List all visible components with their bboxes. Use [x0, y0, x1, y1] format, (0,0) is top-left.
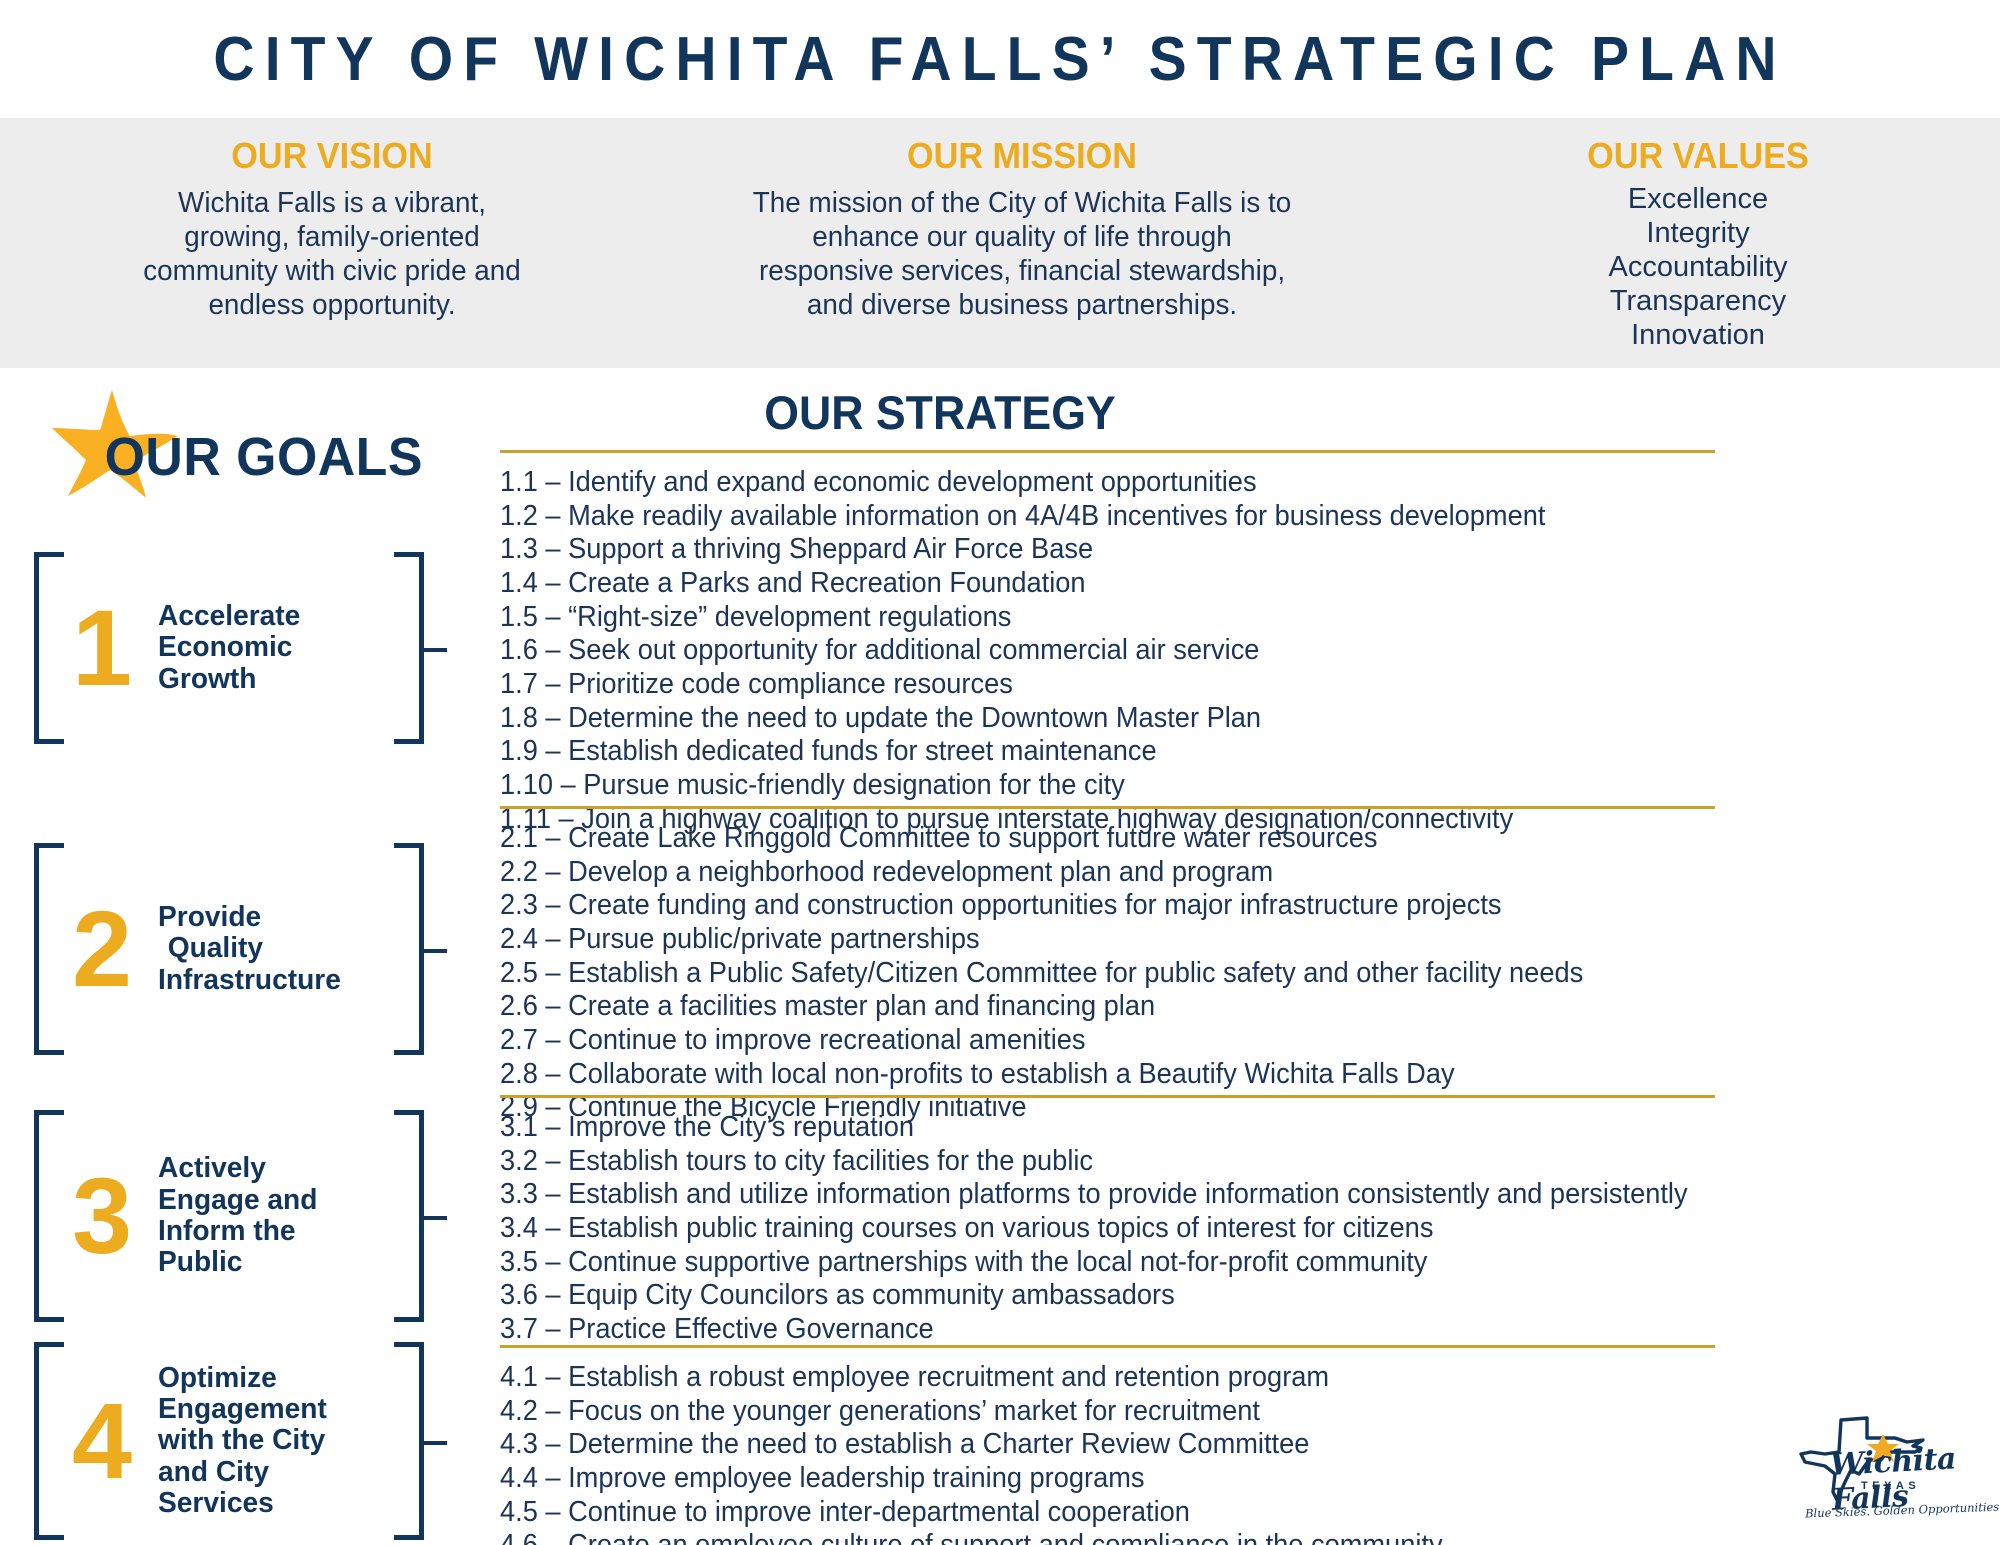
goal-block-4: 4 Optimize Engagement with the City and … — [34, 1342, 424, 1540]
strategy-item: 1.4 – Create a Parks and Recreation Foun… — [500, 567, 1660, 601]
strategy-item: 2.3 – Create funding and construction op… — [500, 889, 1660, 923]
vision-line: endless opportunity. — [34, 289, 629, 323]
strategy-group-4: 4.1 – Establish a robust employee recrui… — [500, 1345, 1715, 1545]
goal-label-line: and City — [158, 1457, 327, 1488]
goal-label-line: Public — [158, 1247, 317, 1278]
strategy-item: 1.8 – Determine the need to update the D… — [500, 702, 1660, 736]
section-divider — [500, 1095, 1715, 1098]
strategy-item: 2.8 – Collaborate with local non-profits… — [500, 1058, 1660, 1092]
strategy-item: 3.7 – Practice Effective Governance — [500, 1313, 1688, 1347]
bracket-tick-icon — [419, 1216, 447, 1220]
strategy-item: 1.5 – “Right-size” development regulatio… — [500, 601, 1660, 635]
strategy-item: 2.7 – Continue to improve recreational a… — [500, 1024, 1660, 1058]
strategy-item: 4.6 – Create an employee culture of supp… — [500, 1529, 1660, 1545]
goal-label-line: Accelerate — [158, 601, 300, 632]
section-divider — [500, 1345, 1715, 1348]
strategy-item: 3.6 – Equip City Councilors as community… — [500, 1279, 1688, 1313]
strategy-item: 1.9 – Establish dedicated funds for stre… — [500, 735, 1660, 769]
strategy-item: 1.3 – Support a thriving Sheppard Air Fo… — [500, 533, 1660, 567]
goal-4-content: 4 Optimize Engagement with the City and … — [72, 1342, 384, 1540]
values-column: OUR VALUES Excellence Integrity Accounta… — [1418, 118, 1978, 353]
strategy-group-2: 2.1 – Create Lake Ringgold Committee to … — [500, 806, 1715, 1125]
bracket-tick-icon — [419, 648, 447, 652]
mission-line: The mission of the City of Wichita Falls… — [676, 187, 1367, 221]
mission-text: The mission of the City of Wichita Falls… — [676, 187, 1367, 323]
title-bar: CITY OF WICHITA FALLS’ STRATEGIC PLAN — [0, 0, 2000, 118]
goal-number: 1 — [72, 602, 158, 694]
goal-label-line: Actively — [158, 1153, 317, 1184]
goal-block-3: 3 Actively Engage and Inform the Public — [34, 1110, 424, 1322]
bracket-left-icon — [34, 843, 64, 1055]
city-logo: Wichita Falls TEXAS Blue Skies. Golden O… — [1795, 1408, 1980, 1533]
bracket-left-icon — [34, 552, 64, 744]
goal-number: 4 — [72, 1395, 158, 1487]
mission-line: responsive services, financial stewardsh… — [676, 255, 1367, 289]
vision-heading: OUR VISION — [38, 135, 627, 177]
goal-label-line: Quality — [158, 933, 341, 964]
strategy-group-1: 1.1 – Identify and expand economic devel… — [500, 450, 1715, 836]
bracket-tick-icon — [419, 1441, 447, 1445]
strategy-item: 3.5 – Continue supportive partnerships w… — [500, 1246, 1688, 1280]
section-divider — [500, 450, 1715, 453]
bracket-left-icon — [34, 1342, 64, 1540]
value-item: Excellence — [1418, 183, 1978, 217]
mission-column: OUR MISSION The mission of the City of W… — [662, 118, 1382, 323]
vision-line: Wichita Falls is a vibrant, — [34, 187, 629, 221]
strategy-item: 4.3 – Determine the need to establish a … — [500, 1428, 1660, 1462]
goal-block-2: 2 Provide Quality Infrastructure — [34, 843, 424, 1055]
vision-column: OUR VISION Wichita Falls is a vibrant, g… — [22, 118, 642, 323]
goal-block-1: 1 Accelerate Economic Growth — [34, 552, 424, 744]
strategy-heading: OUR STRATEGY — [522, 385, 1358, 440]
goal-number: 3 — [72, 1170, 158, 1262]
value-item: Transparency — [1418, 285, 1978, 319]
vision-mission-values-band: OUR VISION Wichita Falls is a vibrant, g… — [0, 118, 2000, 368]
strategy-item: 4.5 – Continue to improve inter-departme… — [500, 1496, 1660, 1530]
bracket-right-icon — [394, 1342, 424, 1540]
strategy-list-3: 3.1 – Improve the City’s reputation 3.2 … — [500, 1111, 1744, 1347]
strategy-item: 3.1 – Improve the City’s reputation — [500, 1111, 1688, 1145]
strategy-group-3: 3.1 – Improve the City’s reputation 3.2 … — [500, 1095, 1744, 1347]
goal-label-line: Services — [158, 1488, 327, 1519]
strategy-item: 4.2 – Focus on the younger generations’ … — [500, 1395, 1660, 1429]
strategy-item: 2.2 – Develop a neighborhood redevelopme… — [500, 856, 1660, 890]
strategy-item: 1.10 – Pursue music-friendly designation… — [500, 769, 1660, 803]
goal-label-line: Inform the — [158, 1216, 317, 1247]
goal-label: Optimize Engagement with the City and Ci… — [158, 1363, 327, 1520]
goal-label-line: Optimize — [158, 1363, 327, 1394]
bracket-left-icon — [34, 1110, 64, 1322]
strategy-item: 1.6 – Seek out opportunity for additiona… — [500, 634, 1660, 668]
vision-line: growing, family-oriented — [34, 221, 629, 255]
goal-label: Accelerate Economic Growth — [158, 601, 300, 695]
strategy-item: 3.2 – Establish tours to city facilities… — [500, 1145, 1688, 1179]
goal-label-line: Growth — [158, 664, 300, 695]
section-divider — [500, 806, 1715, 809]
value-item: Innovation — [1418, 319, 1978, 353]
strategic-plan-page: CITY OF WICHITA FALLS’ STRATEGIC PLAN OU… — [0, 0, 2000, 1545]
goal-label-line: with the City — [158, 1425, 327, 1456]
bracket-right-icon — [394, 843, 424, 1055]
vision-line: community with civic pride and — [34, 255, 629, 289]
strategy-item: 2.5 – Establish a Public Safety/Citizen … — [500, 957, 1660, 991]
logo-state: TEXAS — [1861, 1480, 1920, 1492]
strategy-item: 1.1 – Identify and expand economic devel… — [500, 466, 1660, 500]
strategy-item: 1.2 – Make readily available information… — [500, 500, 1660, 534]
goal-1-content: 1 Accelerate Economic Growth — [72, 552, 384, 744]
strategy-item: 2.1 – Create Lake Ringgold Committee to … — [500, 822, 1660, 856]
strategy-item: 4.4 – Improve employee leadership traini… — [500, 1462, 1660, 1496]
strategy-item: 2.4 – Pursue public/private partnerships — [500, 923, 1660, 957]
values-list: Excellence Integrity Accountability Tran… — [1418, 183, 1978, 353]
strategy-item: 1.7 – Prioritize code compliance resourc… — [500, 668, 1660, 702]
goal-label-line: Engagement — [158, 1394, 327, 1425]
page-title: CITY OF WICHITA FALLS’ STRATEGIC PLAN — [213, 24, 1786, 95]
strategy-list-1: 1.1 – Identify and expand economic devel… — [500, 466, 1715, 836]
mission-heading: OUR MISSION — [680, 135, 1364, 177]
strategy-list-4: 4.1 – Establish a robust employee recrui… — [500, 1361, 1715, 1545]
goal-label-line: Infrastructure — [158, 965, 341, 996]
goals-header: OUR GOALS — [40, 388, 480, 498]
values-heading: OUR VALUES — [1432, 135, 1964, 177]
vision-text: Wichita Falls is a vibrant, growing, fam… — [34, 187, 629, 323]
bracket-right-icon — [394, 552, 424, 744]
goal-3-content: 3 Actively Engage and Inform the Public — [72, 1110, 384, 1322]
goals-heading: OUR GOALS — [105, 426, 423, 488]
bracket-tick-icon — [419, 949, 447, 953]
mission-line: enhance our quality of life through — [676, 221, 1367, 255]
goal-label: Provide Quality Infrastructure — [158, 902, 341, 996]
strategy-item: 3.4 – Establish public training courses … — [500, 1212, 1688, 1246]
goal-number: 2 — [72, 903, 158, 995]
value-item: Accountability — [1418, 251, 1978, 285]
bracket-right-icon — [394, 1110, 424, 1322]
strategy-item: 3.3 – Establish and utilize information … — [500, 1178, 1688, 1212]
goal-label-line: Engage and — [158, 1185, 317, 1216]
mission-line: and diverse business partnerships. — [676, 289, 1367, 323]
goal-label: Actively Engage and Inform the Public — [158, 1153, 317, 1278]
strategy-item: 4.1 – Establish a robust employee recrui… — [500, 1361, 1660, 1395]
strategy-item: 2.6 – Create a facilities master plan an… — [500, 990, 1660, 1024]
goal-2-content: 2 Provide Quality Infrastructure — [72, 843, 384, 1055]
goal-label-line: Economic — [158, 632, 300, 663]
value-item: Integrity — [1418, 217, 1978, 251]
strategy-list-2: 2.1 – Create Lake Ringgold Committee to … — [500, 822, 1715, 1125]
goal-label-line: Provide — [158, 902, 341, 933]
